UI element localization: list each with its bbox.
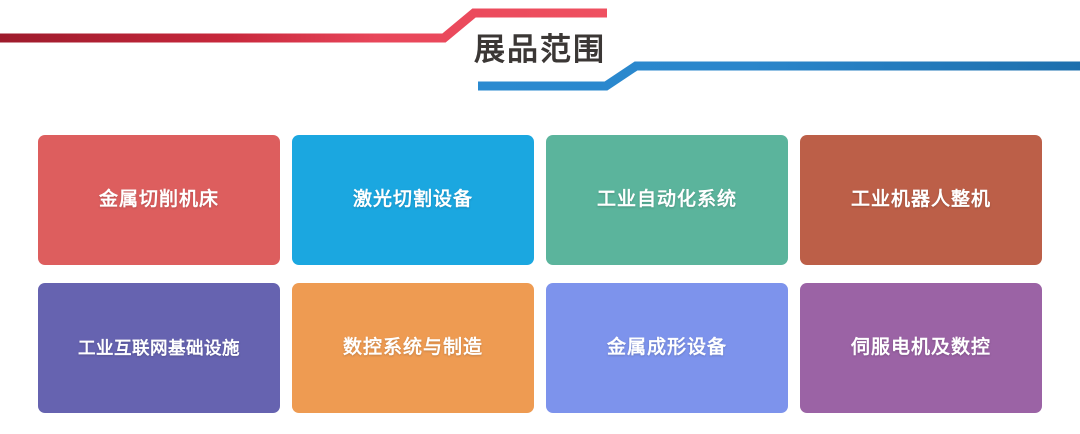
category-card[interactable]: 工业机器人整机 bbox=[800, 135, 1042, 265]
category-card-label: 工业互联网基础设施 bbox=[78, 335, 240, 361]
category-card-label: 金属成形设备 bbox=[607, 335, 727, 361]
category-card[interactable]: 工业互联网基础设施 bbox=[38, 283, 280, 413]
category-card-label: 工业自动化系统 bbox=[597, 187, 737, 213]
header-band: 展品范围 bbox=[0, 0, 1080, 112]
category-card-label: 金属切削机床 bbox=[99, 187, 219, 213]
category-card-label: 激光切割设备 bbox=[353, 187, 473, 213]
category-card-label: 工业机器人整机 bbox=[851, 187, 991, 213]
page-title: 展品范围 bbox=[0, 28, 1080, 72]
category-card[interactable]: 工业自动化系统 bbox=[546, 135, 788, 265]
category-card[interactable]: 数控系统与制造 bbox=[292, 283, 534, 413]
category-card[interactable]: 伺服电机及数控 bbox=[800, 283, 1042, 413]
category-card[interactable]: 金属成形设备 bbox=[546, 283, 788, 413]
category-card-label: 数控系统与制造 bbox=[343, 335, 483, 361]
category-card[interactable]: 激光切割设备 bbox=[292, 135, 534, 265]
exhibit-category-grid: 金属切削机床激光切割设备工业自动化系统工业机器人整机工业互联网基础设施数控系统与… bbox=[38, 135, 1042, 415]
category-card[interactable]: 金属切削机床 bbox=[38, 135, 280, 265]
category-card-label: 伺服电机及数控 bbox=[851, 335, 991, 361]
